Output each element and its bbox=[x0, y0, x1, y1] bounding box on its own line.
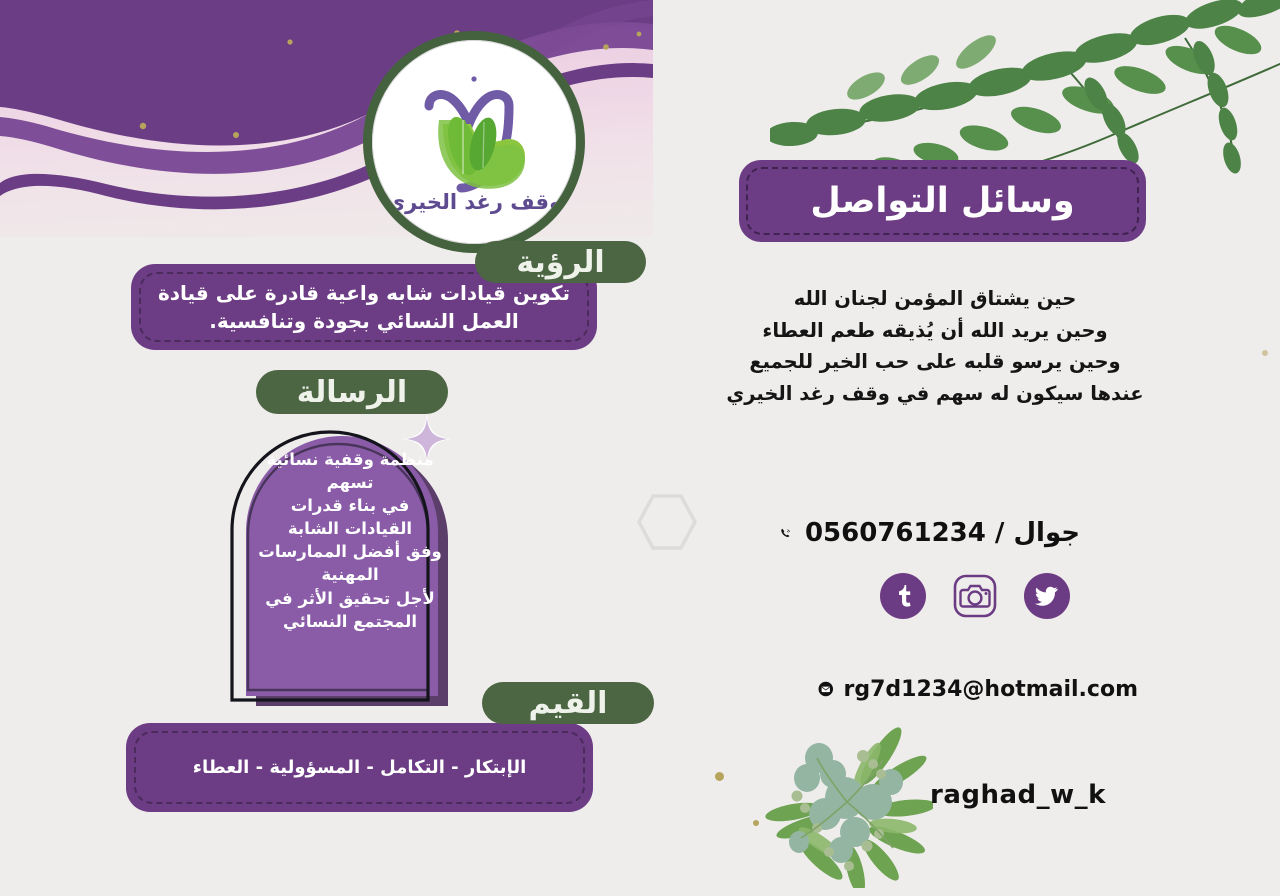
tumblr-icon[interactable] bbox=[880, 573, 926, 619]
mission-body: منظمة وقفية نسائية تسهم في بناء قدرات ال… bbox=[244, 448, 456, 688]
phone-row[interactable]: جوال / 0560761234 bbox=[780, 512, 1080, 554]
poster-canvas: وقف رغد الخيري bbox=[0, 0, 1280, 896]
values-card: الإبتكار - التكامل - المسؤولية - العطاء bbox=[126, 723, 593, 812]
vision-tab: الرؤية bbox=[475, 241, 646, 283]
poem-line: وحين يريد الله أن يُذيقه طعم العطاء bbox=[700, 315, 1170, 347]
poem-line: وحين يرسو قلبه على حب الخير للجميع bbox=[700, 346, 1170, 378]
tumblr-glyph bbox=[890, 583, 916, 609]
values-tab: القيم bbox=[482, 682, 654, 724]
mission-tab: الرسالة bbox=[256, 370, 448, 414]
contact-header-card: وسائل التواصل bbox=[739, 160, 1146, 242]
sparkle-icon bbox=[400, 412, 454, 466]
mission-line: المجتمع النسائي bbox=[283, 610, 417, 633]
mission-line: القيادات الشابة bbox=[288, 517, 412, 540]
hexagon-outline-decoration bbox=[635, 491, 697, 553]
gold-dot-decoration bbox=[1262, 350, 1268, 356]
mission-tab-label: الرسالة bbox=[297, 375, 407, 410]
gold-dot-decoration bbox=[753, 820, 759, 826]
values-body: الإبتكار - التكامل - المسؤولية - العطاء bbox=[126, 723, 593, 812]
twitter-icon[interactable] bbox=[1024, 573, 1070, 619]
email-text: rg7d1234@hotmail.com bbox=[844, 677, 1138, 702]
mission-line: في بناء قدرات bbox=[291, 494, 410, 517]
mission-line: وفق أفضل الممارسات bbox=[258, 540, 442, 563]
values-tab-label: القيم bbox=[529, 686, 608, 721]
instagram-icon[interactable] bbox=[952, 573, 998, 619]
email-row[interactable]: rg7d1234@hotmail.com bbox=[818, 671, 1138, 707]
organization-logo: وقف رغد الخيري bbox=[372, 40, 576, 244]
poem-text: حين يشتاق المؤمن لجنان الله وحين يريد ال… bbox=[700, 283, 1170, 409]
gold-dot-decoration bbox=[715, 772, 724, 781]
social-handle: raghad_w_k bbox=[930, 780, 1106, 810]
mission-line: المهنية bbox=[321, 563, 378, 586]
email-icon bbox=[818, 674, 834, 704]
floral-bouquet-decoration bbox=[763, 722, 933, 888]
phone-icon bbox=[780, 516, 791, 550]
mission-line: لأجل تحقيق الأثر في bbox=[265, 587, 435, 610]
instagram-glyph bbox=[952, 573, 998, 619]
poem-line: حين يشتاق المؤمن لجنان الله bbox=[700, 283, 1170, 315]
vision-tab-label: الرؤية bbox=[516, 245, 604, 280]
phone-text: جوال / 0560761234 bbox=[805, 518, 1080, 548]
logo-wordmark: وقف رغد الخيري bbox=[372, 190, 576, 214]
poem-line: عندها سيكون له سهم في وقف رغد الخيري bbox=[700, 378, 1170, 410]
contact-header-label: وسائل التواصل bbox=[810, 181, 1074, 221]
social-links-row[interactable] bbox=[880, 572, 1070, 620]
mission-line: تسهم bbox=[327, 471, 374, 494]
twitter-bird-glyph bbox=[1034, 583, 1060, 609]
